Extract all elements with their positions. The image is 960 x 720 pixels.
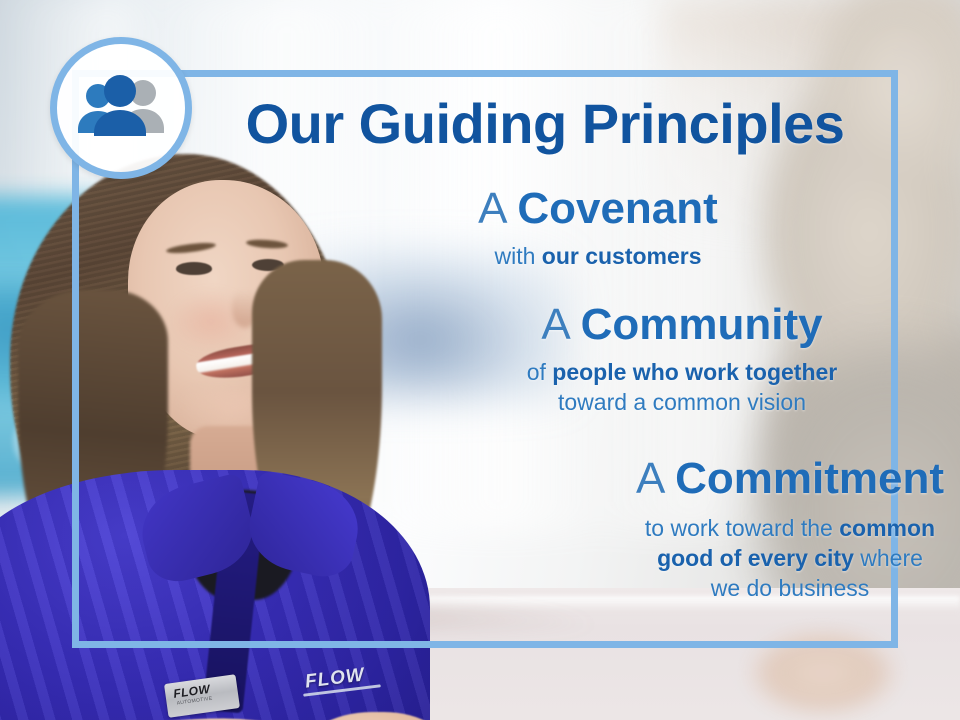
principle-commitment-subtext: to work toward the common good of every … [310, 513, 960, 604]
principle-commitment-sub-line-1: to work toward the common [310, 513, 960, 543]
principle-community: A Community of people who work together … [0, 302, 960, 417]
page-title: Our Guiding Principles [0, 96, 960, 152]
principle-community-subtext: of people who work together toward a com… [202, 357, 960, 418]
principle-commitment-sub-line-3: we do business [310, 573, 960, 603]
principle-community-keyword: Community [581, 300, 823, 349]
principle-community-sub-plain: of [527, 359, 553, 385]
guiding-principles-graphic: FLOW AUTOMOTIVE FLOW Our Guiding Princi [0, 0, 960, 720]
principle-community-sub-line-1: of people who work together [202, 357, 960, 387]
principle-covenant-keyword: Covenant [517, 184, 717, 233]
blurred-customer-hand [728, 618, 918, 720]
principle-community-heading: A Community [202, 302, 960, 348]
principle-commitment-sub-bold-2: good of every city [657, 545, 854, 571]
principle-commitment-sub-line-2: good of every city where [310, 543, 960, 573]
principle-commitment: A Commitment to work toward the common g… [0, 456, 960, 604]
principle-community-sub-line-2: toward a common vision [202, 387, 960, 417]
principle-commitment-sub-plain-1: to work toward the [645, 515, 839, 541]
principle-covenant-sub-plain: with [494, 243, 541, 269]
principle-community-sub-bold: people who work together [552, 359, 837, 385]
principle-covenant-sub-bold: our customers [542, 243, 702, 269]
principle-commitment-sub-plain-2: where [854, 545, 923, 571]
principle-covenant: A Covenant with our customers [0, 186, 960, 271]
principle-commitment-keyword: Commitment [675, 454, 944, 503]
principle-covenant-subtext: with our customers [118, 241, 960, 271]
principle-commitment-sub-bold-1: common [839, 515, 935, 541]
principle-covenant-article: A [478, 184, 517, 233]
principle-commitment-article: A [636, 454, 675, 503]
principle-community-article: A [541, 300, 580, 349]
principle-commitment-heading: A Commitment [310, 456, 960, 502]
principle-covenant-heading: A Covenant [118, 186, 960, 232]
